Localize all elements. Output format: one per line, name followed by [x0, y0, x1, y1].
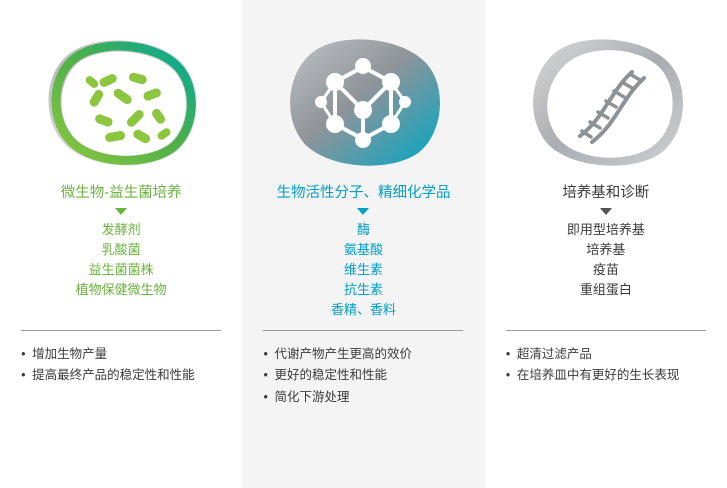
- list-item: 香精、香料: [331, 300, 396, 320]
- column-media-diagnostics: 培养基和诊断 即用型培养基 培养基 疫苗 重组蛋白 超清过滤产品 在培养皿中有更…: [485, 0, 727, 488]
- list-item: 乳酸菌: [76, 240, 167, 260]
- divider: [21, 330, 221, 331]
- column-items: 即用型培养基 培养基 疫苗 重组蛋白: [567, 220, 645, 301]
- list-item: 在培养皿中有更好的生长表现: [506, 365, 706, 385]
- list-item: 培养基: [567, 240, 645, 260]
- list-item: 更好的稳定性和性能: [263, 365, 463, 385]
- list-item: 即用型培养基: [567, 220, 645, 240]
- three-column-diagram: 微生物-益生菌培养 发酵剂 乳酸菌 益生菌菌株 植物保健微生物 增加生物产量 提…: [0, 0, 727, 488]
- list-item: 氨基酸: [331, 240, 396, 260]
- divider: [506, 330, 706, 331]
- list-item: 抗生素: [331, 280, 396, 300]
- list-item: 疫苗: [567, 260, 645, 280]
- list-item: 植物保健微生物: [76, 280, 167, 300]
- column-bullets: 超清过滤产品 在培养皿中有更好的生长表现: [506, 344, 706, 387]
- list-item: 维生素: [331, 260, 396, 280]
- column-items: 发酵剂 乳酸菌 益生菌菌株 植物保健微生物: [76, 220, 167, 301]
- list-item: 简化下游处理: [263, 387, 463, 407]
- divider: [263, 330, 463, 331]
- column-bullets: 增加生物产量 提高最终产品的稳定性和性能: [21, 344, 221, 387]
- list-item: 提高最终产品的稳定性和性能: [21, 365, 221, 385]
- column-bullets: 代谢产物产生更高的效价 更好的稳定性和性能 简化下游处理: [263, 344, 463, 408]
- column-items: 酶 氨基酸 维生素 抗生素 香精、香料: [331, 220, 396, 321]
- column-microbials: 微生物-益生菌培养 发酵剂 乳酸菌 益生菌菌株 植物保健微生物 增加生物产量 提…: [0, 0, 242, 488]
- dna-helix-icon: [516, 30, 696, 170]
- list-item: 增加生物产量: [21, 344, 221, 364]
- down-arrow-icon: [357, 208, 369, 215]
- list-item: 重组蛋白: [567, 280, 645, 300]
- list-item: 酶: [331, 220, 396, 240]
- down-arrow-icon: [600, 208, 612, 215]
- list-item: 超清过滤产品: [506, 344, 706, 364]
- column-title: 微生物-益生菌培养: [61, 184, 182, 203]
- column-title: 培养基和诊断: [562, 184, 649, 203]
- list-item: 发酵剂: [76, 220, 167, 240]
- down-arrow-icon: [115, 208, 127, 215]
- list-item: 代谢产物产生更高的效价: [263, 344, 463, 364]
- bacteria-cell-icon: [31, 30, 211, 170]
- column-bioactives: 生物活性分子、精细化学品 酶 氨基酸 维生素 抗生素 香精、香料 代谢产物产生更…: [242, 0, 484, 488]
- molecule-network-icon: [273, 30, 453, 170]
- list-item: 益生菌菌株: [76, 260, 167, 280]
- column-title: 生物活性分子、精细化学品: [276, 184, 450, 203]
